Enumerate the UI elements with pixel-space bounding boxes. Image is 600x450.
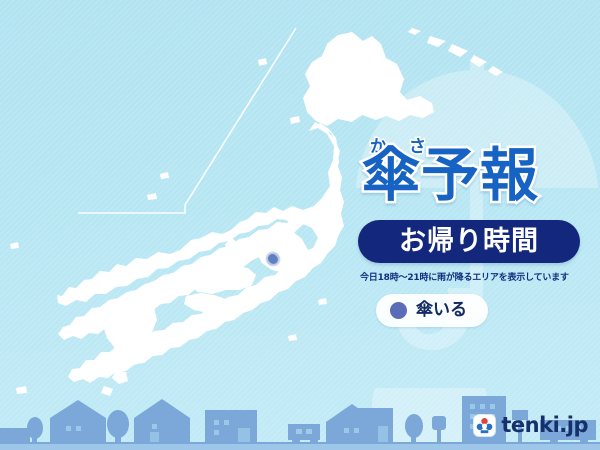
rain-marker-2[interactable] — [268, 254, 277, 263]
tenki-jp-wordmark: tenki.jp — [501, 415, 588, 436]
legend-label: 傘いる — [416, 302, 467, 319]
weather-forecast-image: か さ 傘予報 お帰り時間 今日18時〜21時に雨が降るエリアを表示しています … — [0, 0, 600, 450]
time-slot-banner: お帰り時間 — [358, 220, 580, 263]
time-slot-label: お帰り時間 — [399, 228, 539, 255]
tenki-jp-logo[interactable]: tenki.jp — [474, 415, 588, 436]
page-title: 傘予報 — [362, 146, 539, 204]
legend-dot-icon — [390, 302, 407, 319]
forecast-info-panel: か さ 傘予報 お帰り時間 今日18時〜21時に雨が降るエリアを表示しています … — [358, 132, 594, 327]
forecast-caption: 今日18時〜21時に雨が降るエリアを表示しています — [360, 270, 594, 283]
legend: 傘いる — [376, 294, 488, 327]
tenki-flower-icon — [474, 415, 495, 436]
title-block: か さ 傘予報 — [358, 132, 594, 218]
